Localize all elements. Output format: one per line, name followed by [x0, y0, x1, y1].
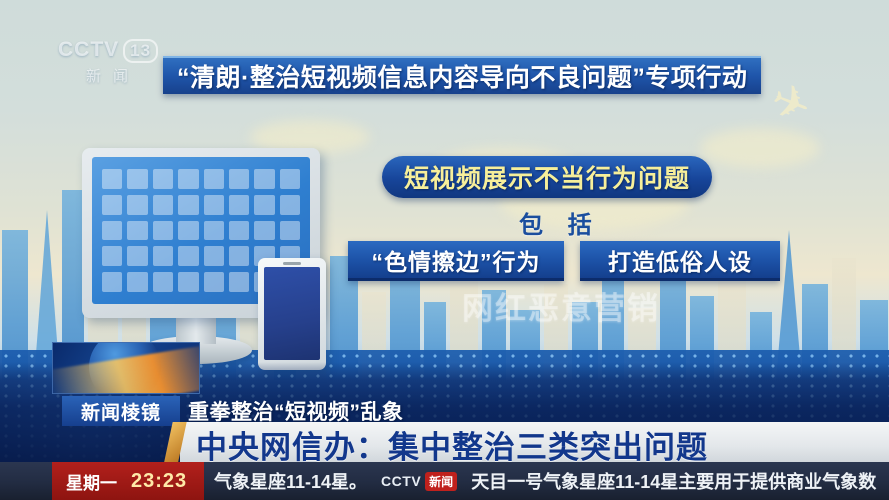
channel-logo: CCTV13 新闻	[58, 38, 158, 86]
broadcast-screen: ✈ CCTV1	[0, 0, 889, 500]
app-tile	[178, 195, 198, 215]
ticker-segment-left: 气象星座11-14星。	[214, 468, 367, 494]
app-tile	[153, 169, 173, 189]
app-tile	[204, 272, 224, 292]
app-tile	[153, 221, 173, 241]
channel-logo-number: 13	[123, 39, 158, 63]
app-tile	[204, 221, 224, 241]
graphic-item-box-1: “色情擦边”行为	[348, 241, 564, 281]
ticker-brand-sub: 新闻	[425, 472, 457, 491]
app-tile	[102, 246, 122, 266]
lower-third-headline: 中央网信办：集中整治三类突出问题	[196, 424, 708, 464]
phone-speaker	[283, 262, 301, 265]
graphic-connector-label: 包 括	[519, 205, 601, 240]
app-tile	[254, 221, 274, 241]
phone-screen	[264, 267, 320, 360]
channel-logo-sub: 新闻	[58, 65, 158, 86]
app-tile	[254, 169, 274, 189]
app-tile	[280, 221, 300, 241]
globe-logo	[52, 342, 200, 394]
app-tile	[229, 221, 249, 241]
ticker-brand-logo: CCTV 新闻	[381, 472, 457, 491]
ticker-clock-block: 星期一 23:23	[52, 462, 204, 500]
app-tile	[254, 195, 274, 215]
ticker-brand-main: CCTV	[381, 473, 421, 489]
graphic-headline-pill-text: 短视频展示不当行为问题	[404, 159, 690, 195]
lower-third-headline-text: 中央网信办：集中整治三类突出问题	[196, 422, 708, 467]
smartphone-graphic	[258, 258, 326, 370]
top-campaign-banner: “清朗·整治短视频信息内容导向不良问题”专项行动	[163, 56, 761, 94]
app-tile	[204, 169, 224, 189]
app-tile	[153, 195, 173, 215]
app-tile	[127, 195, 147, 215]
app-tile	[127, 169, 147, 189]
app-tile	[102, 272, 122, 292]
ticker-clock: 23:23	[131, 470, 187, 493]
ticker-weekday: 星期一	[66, 469, 117, 494]
app-tile	[127, 272, 147, 292]
graphic-item-box-2: 打造低俗人设	[580, 241, 780, 281]
ticker-text-area: 气象星座11-14星。 CCTV 新闻 天目一号气象星座11-14星主要用于提供…	[204, 468, 889, 494]
graphic-item-label-1: “色情擦边”行为	[372, 243, 541, 277]
lower-third-panel: 新闻棱镜 重拳整治“短视频”乱象 中央网信办：集中整治三类突出问题	[0, 362, 889, 462]
top-campaign-banner-text: “清朗·整治短视频信息内容导向不良问题”专项行动	[177, 58, 747, 94]
channel-logo-name: CCTV	[58, 38, 119, 61]
app-tile	[229, 246, 249, 266]
app-tile	[178, 221, 198, 241]
app-tile	[153, 246, 173, 266]
app-tile	[127, 246, 147, 266]
ghost-watermark-text: 网红恶意营销	[462, 283, 660, 328]
app-tile	[280, 195, 300, 215]
app-tile	[178, 169, 198, 189]
app-tile	[229, 169, 249, 189]
app-tile	[229, 195, 249, 215]
app-tile	[102, 221, 122, 241]
app-tile	[178, 246, 198, 266]
program-tag-label: 新闻棱镜	[81, 398, 161, 425]
app-tile	[229, 272, 249, 292]
app-tile	[280, 169, 300, 189]
graphic-headline-pill: 短视频展示不当行为问题	[382, 156, 712, 198]
ticker-segment-right: 天目一号气象星座11-14星主要用于提供商业气象数	[471, 468, 876, 494]
app-tile	[102, 195, 122, 215]
bottom-ticker-bar: 星期一 23:23 气象星座11-14星。 CCTV 新闻 天目一号气象星座11…	[0, 462, 889, 500]
graphic-item-label-2: 打造低俗人设	[608, 243, 752, 277]
program-tag: 新闻棱镜	[62, 396, 180, 426]
app-tile	[204, 246, 224, 266]
app-tile	[153, 272, 173, 292]
app-tile	[178, 272, 198, 292]
app-tile	[204, 195, 224, 215]
app-tile	[102, 169, 122, 189]
app-tile	[127, 221, 147, 241]
monitor-neck	[176, 318, 216, 344]
